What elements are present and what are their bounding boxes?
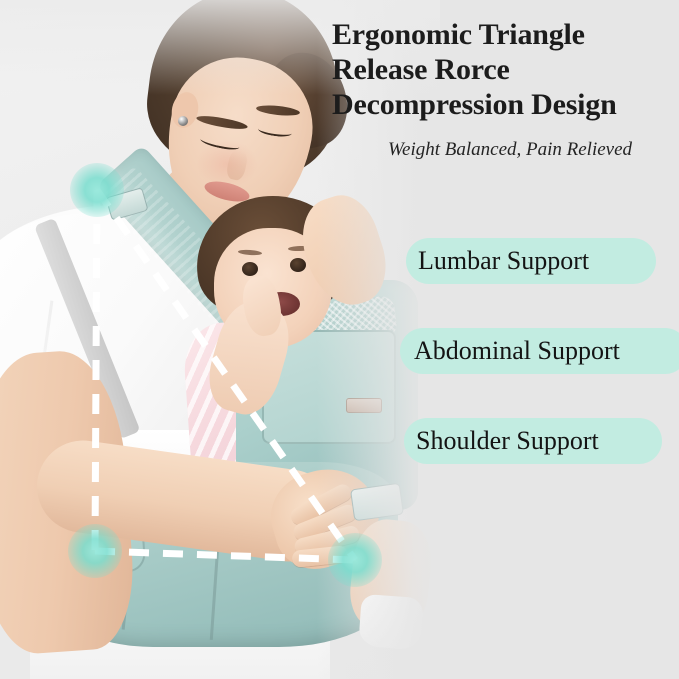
feature-label: Lumbar Support bbox=[418, 241, 589, 281]
product-feature-image: Ergonomic Triangle Release Rorce Decompr… bbox=[0, 0, 679, 679]
feature-shoulder-support: Shoulder Support bbox=[400, 418, 679, 464]
headline-line-3: Decompression Design bbox=[332, 88, 679, 123]
abdominal-point-glow-icon bbox=[328, 533, 382, 587]
feature-label: Abdominal Support bbox=[414, 331, 620, 371]
feature-list: Lumbar Support Abdominal Support Shoulde… bbox=[400, 238, 679, 508]
feature-abdominal-support: Abdominal Support bbox=[400, 328, 679, 374]
earring-icon bbox=[178, 116, 188, 126]
feature-lumbar-support: Lumbar Support bbox=[400, 238, 679, 284]
baby-eye-right bbox=[290, 258, 306, 272]
page-title: Ergonomic Triangle Release Rorce Decompr… bbox=[332, 18, 679, 122]
feature-label: Shoulder Support bbox=[416, 421, 599, 461]
headline-line-2: Release Rorce bbox=[332, 53, 679, 88]
baby-sock bbox=[358, 594, 423, 650]
carrier-brand-patch bbox=[346, 398, 382, 413]
lumbar-point-glow-icon bbox=[68, 524, 122, 578]
subtitle: Weight Balanced, Pain Relieved bbox=[340, 139, 679, 161]
headline-line-1: Ergonomic Triangle bbox=[332, 18, 679, 53]
baby-eye-left bbox=[242, 262, 258, 276]
shoulder-point-glow-icon bbox=[70, 163, 124, 217]
